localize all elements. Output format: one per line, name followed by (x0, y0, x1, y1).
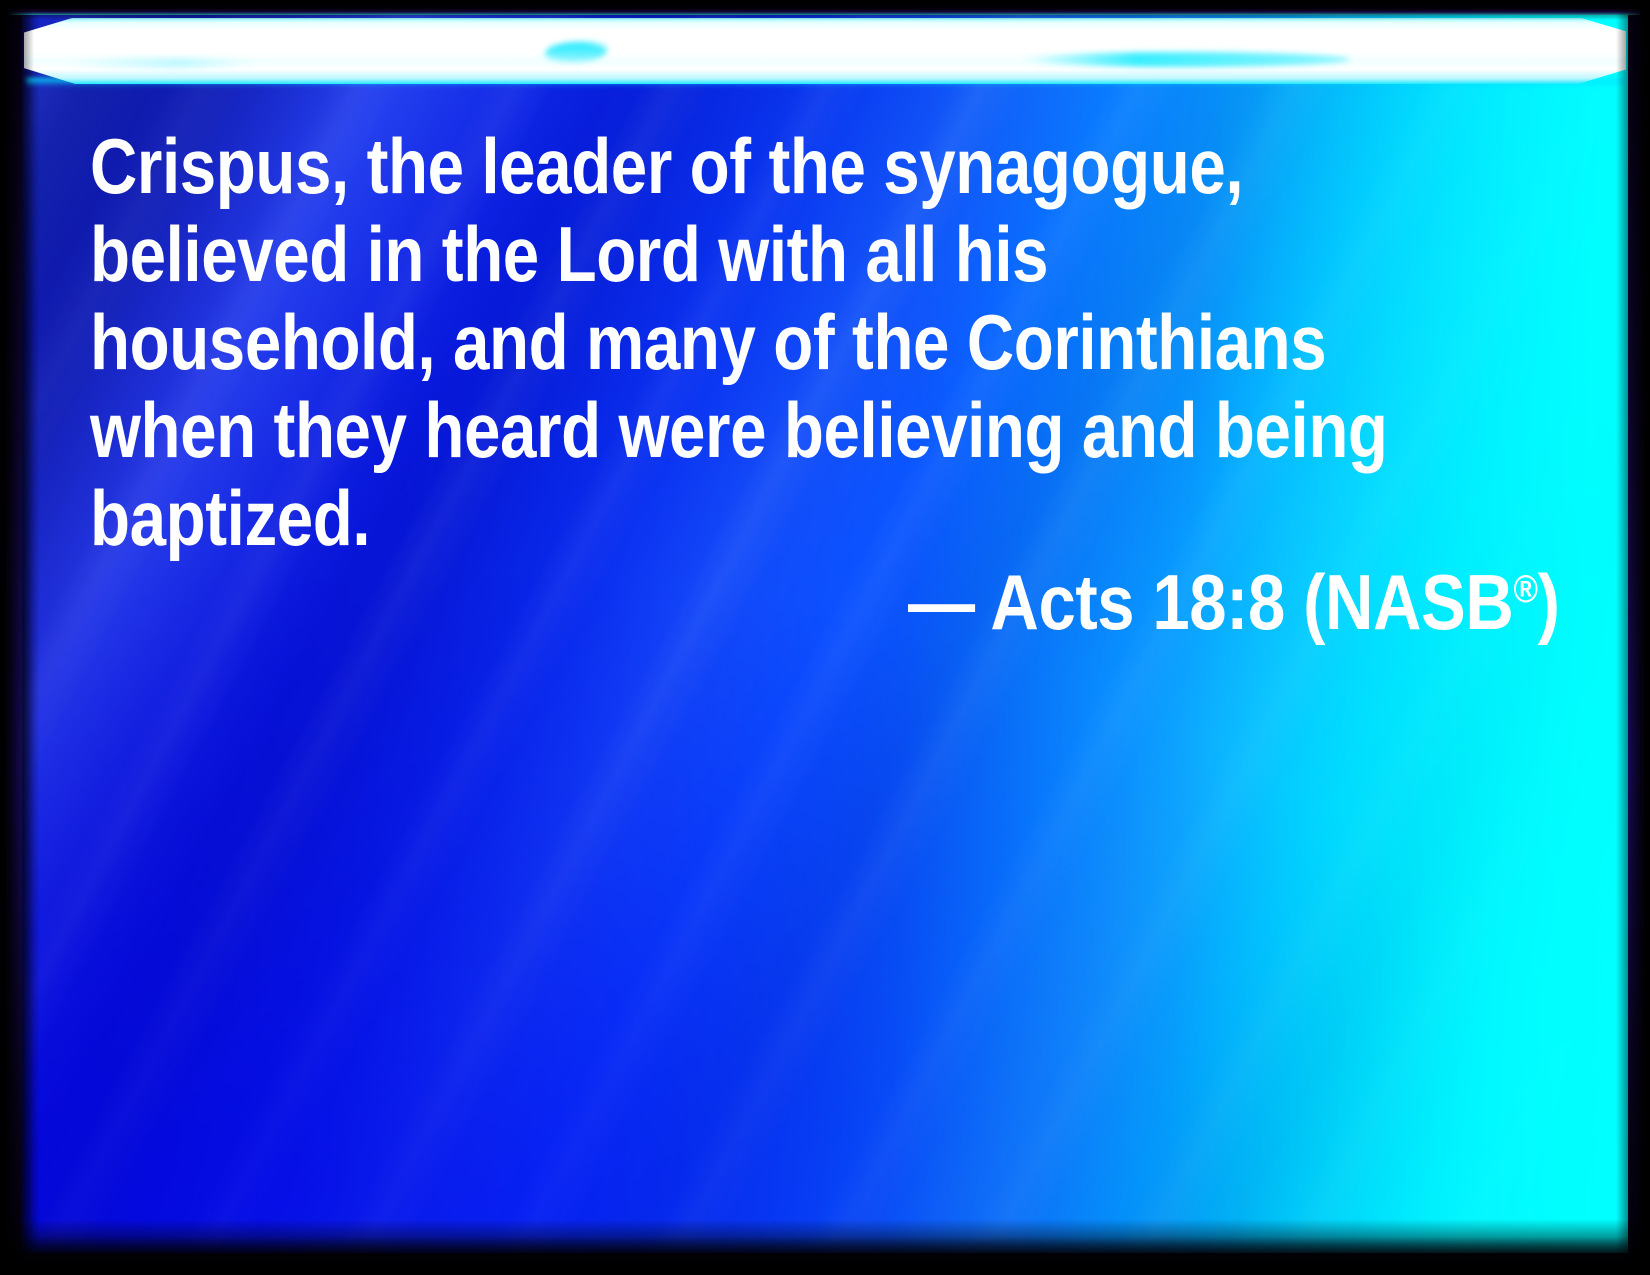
attribution-book: Acts (991, 558, 1135, 646)
attribution-reference: 18:8 (1153, 558, 1286, 646)
attribution-text: — Acts 18:8 (NASB®) (908, 558, 1560, 646)
verse-line-5: baptized. (90, 474, 1325, 562)
header-glow-band (24, 18, 1626, 84)
verse-line-2: believed in the Lord with all his (90, 210, 1325, 298)
header-band-topline (10, 9, 1640, 15)
verse-line-4: when they heard were believing and being (90, 386, 1325, 474)
attribution-dash: — (908, 558, 975, 646)
verse-line-3: household, and many of the Corinthians (90, 298, 1325, 386)
attribution-translation: NASB (1325, 558, 1513, 646)
verse-attribution: — Acts 18:8 (NASB®) (90, 558, 1560, 646)
registered-trademark-icon: ® (1514, 568, 1538, 611)
verse-line-1: Crispus, the leader of the synagogue, (90, 122, 1325, 210)
verse-slide: Crispus, the leader of the synagogue, be… (0, 0, 1650, 1275)
verse-text-block: Crispus, the leader of the synagogue, be… (90, 122, 1560, 562)
